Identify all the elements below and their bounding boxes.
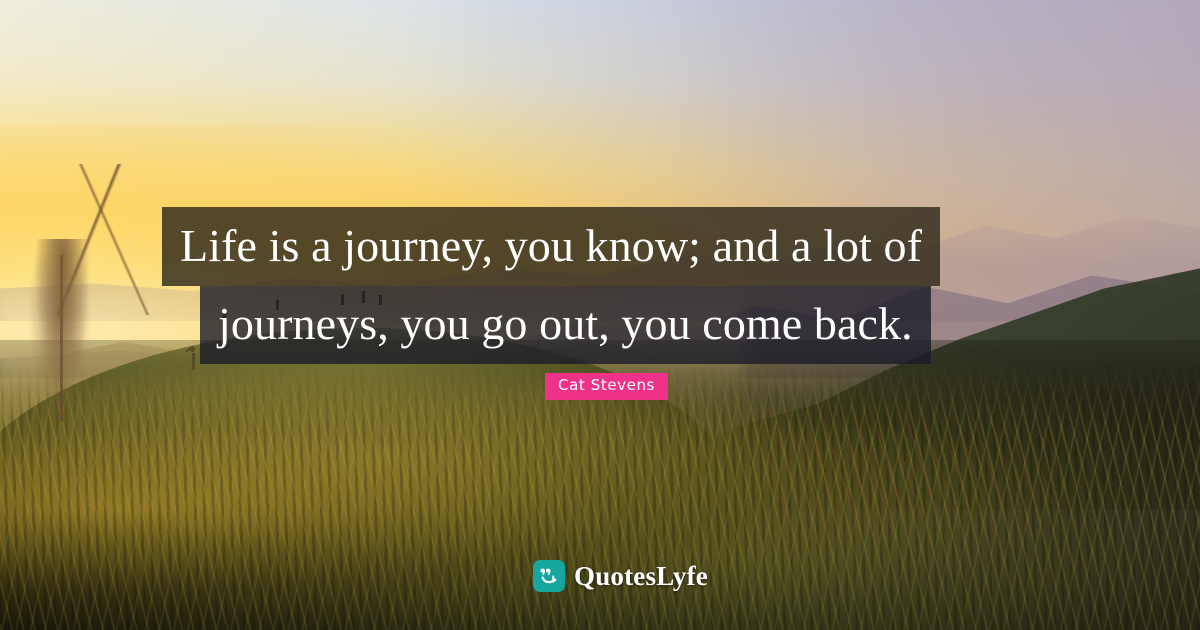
grass-plumes [768,403,1176,617]
flower-stalk-silhouette [29,239,96,428]
quote-card: Life is a journey, you know; and a lot o… [0,0,1200,630]
quote-line-1: Life is a journey, you know; and a lot o… [162,207,940,286]
quote-line-2: journeys, you go out, you come back. [200,286,931,364]
quote-smiley-icon [533,560,565,592]
quoteslyfe-logo[interactable]: QuotesLyfe [533,560,708,592]
brand-name: QuotesLyfe [574,563,708,590]
author-badge[interactable]: Cat Stevens [545,373,668,400]
